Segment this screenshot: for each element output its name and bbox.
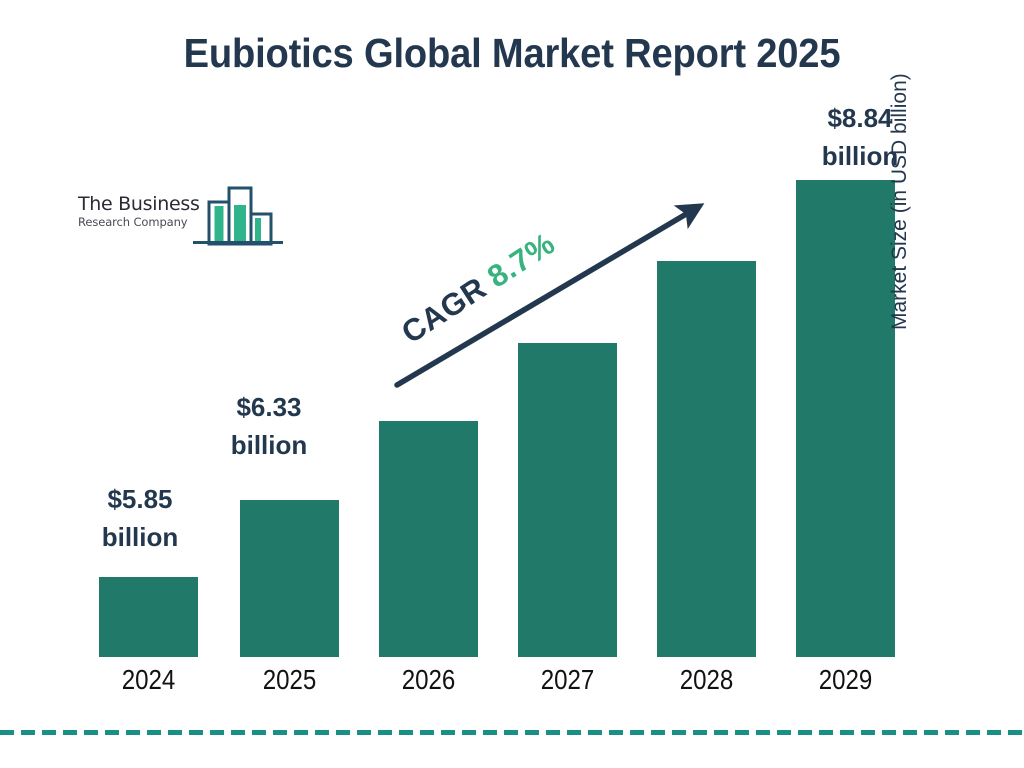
bar-2029 — [796, 180, 895, 657]
footer-divider — [0, 730, 1024, 735]
cagr-annotation: CAGR 8.7% — [395, 226, 561, 352]
x-tick-2028: 2028 — [664, 664, 749, 696]
cagr-value: 8.7% — [481, 226, 561, 295]
value-label-2025: $6.33 billion — [195, 388, 343, 464]
bar-chart-plot: $5.85 billion $6.33 billion $8.84 billio… — [0, 0, 1024, 768]
bar-2025 — [240, 500, 339, 657]
x-tick-2026: 2026 — [386, 664, 471, 696]
value-label-2024: $5.85 billion — [70, 480, 210, 556]
x-tick-2029: 2029 — [803, 664, 888, 696]
bar-2026 — [379, 421, 478, 657]
x-tick-2025: 2025 — [247, 664, 332, 696]
bar-2027 — [518, 343, 617, 657]
bar-2028 — [657, 261, 756, 657]
x-tick-2027: 2027 — [525, 664, 610, 696]
x-tick-2024: 2024 — [106, 664, 191, 696]
y-axis-title: Market Size (in USD billion) — [888, 0, 912, 330]
cagr-label: CAGR — [395, 265, 500, 350]
bar-2024 — [99, 577, 198, 657]
chart-page: Eubiotics Global Market Report 2025 The … — [0, 0, 1024, 768]
